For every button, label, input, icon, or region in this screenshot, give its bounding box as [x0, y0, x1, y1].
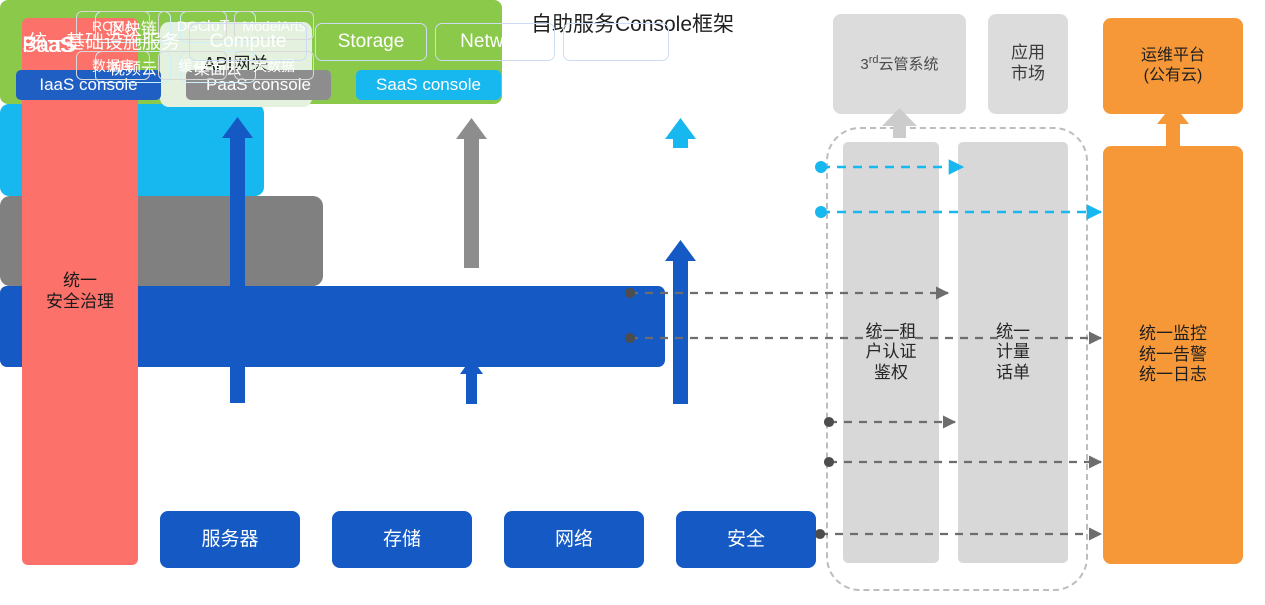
- arrow-iaas-to-saas: [665, 240, 696, 404]
- iaas-chip-1-label: Storage: [338, 31, 405, 53]
- third-party-label: 3rd云管系统: [860, 54, 938, 74]
- metering-line-1: 统一: [996, 322, 1030, 342]
- iaas-chip-storage[interactable]: Storage: [315, 23, 427, 61]
- tenant-auth-line-3: 鉴权: [866, 363, 917, 383]
- arrow-saas-to-console: [665, 118, 696, 148]
- iaas-chip-compute[interactable]: Compute: [189, 23, 307, 61]
- saas-console-chip[interactable]: SaaS console: [356, 70, 501, 100]
- hardware-box-security[interactable]: 安全: [676, 511, 816, 568]
- security-line-2: 安全治理: [46, 292, 114, 313]
- ops-platform-line-1: 运维平台: [1141, 46, 1205, 66]
- ops-side-line-1: 统一监控: [1139, 324, 1207, 345]
- iaas-label: 统一基础设施服务: [16, 0, 192, 81]
- arrow-paas-to-console: [456, 118, 487, 268]
- security-line-1: 统一: [46, 271, 114, 292]
- ops-side-line-2: 统一告警: [1139, 345, 1207, 366]
- third-party-suffix: 云管系统: [879, 56, 939, 73]
- security-governance-column: 统一 安全治理: [22, 18, 138, 565]
- ops-side-line-3: 统一日志: [1139, 365, 1207, 386]
- hardware-box-network[interactable]: 网络: [504, 511, 644, 568]
- ops-platform-line-2: (公有云): [1141, 66, 1205, 86]
- unified-metering-column: 统一 计量 话单: [958, 142, 1068, 563]
- architecture-diagram: 统一 安全治理 API网关 自助服务Console框架 IaaS console…: [0, 0, 1265, 605]
- app-market-line-1: 应用: [1011, 43, 1045, 64]
- metering-line-2: 计量: [996, 342, 1030, 362]
- hardware-box-storage[interactable]: 存储: [332, 511, 472, 568]
- hardware-box-server[interactable]: 服务器: [160, 511, 300, 568]
- hardware-1-label: 存储: [383, 528, 421, 551]
- tenant-auth-line-1: 统一租: [866, 322, 917, 342]
- iaas-chip-0-label: Compute: [209, 31, 286, 53]
- app-market-line-2: 市场: [1011, 64, 1045, 85]
- third-party-prefix: 3: [860, 56, 868, 73]
- unified-tenant-auth-column: 统一租 户认证 鉴权: [843, 142, 939, 563]
- hardware-0-label: 服务器: [201, 528, 258, 551]
- third-party-sup: rd: [869, 54, 879, 66]
- hardware-2-label: 网络: [555, 528, 593, 551]
- tenant-auth-line-2: 户认证: [866, 342, 917, 362]
- iaas-chip-2-label: Network: [460, 31, 530, 53]
- ops-platform-box: 运维平台 (公有云): [1103, 18, 1243, 114]
- app-market-box: 应用 市场: [988, 14, 1068, 114]
- saas-console-label: SaaS console: [376, 75, 481, 95]
- iaas-chip-network[interactable]: Network: [435, 23, 555, 61]
- third-party-cloud-mgmt-box: 3rd云管系统: [833, 14, 966, 114]
- hardware-3-label: 安全: [727, 528, 765, 551]
- iaas-chip-3-label: CCE: [596, 31, 636, 53]
- metering-line-3: 话单: [996, 363, 1030, 383]
- iaas-chip-cce[interactable]: CCE: [563, 23, 669, 61]
- unified-ops-column: 统一监控 统一告警 统一日志: [1103, 146, 1243, 564]
